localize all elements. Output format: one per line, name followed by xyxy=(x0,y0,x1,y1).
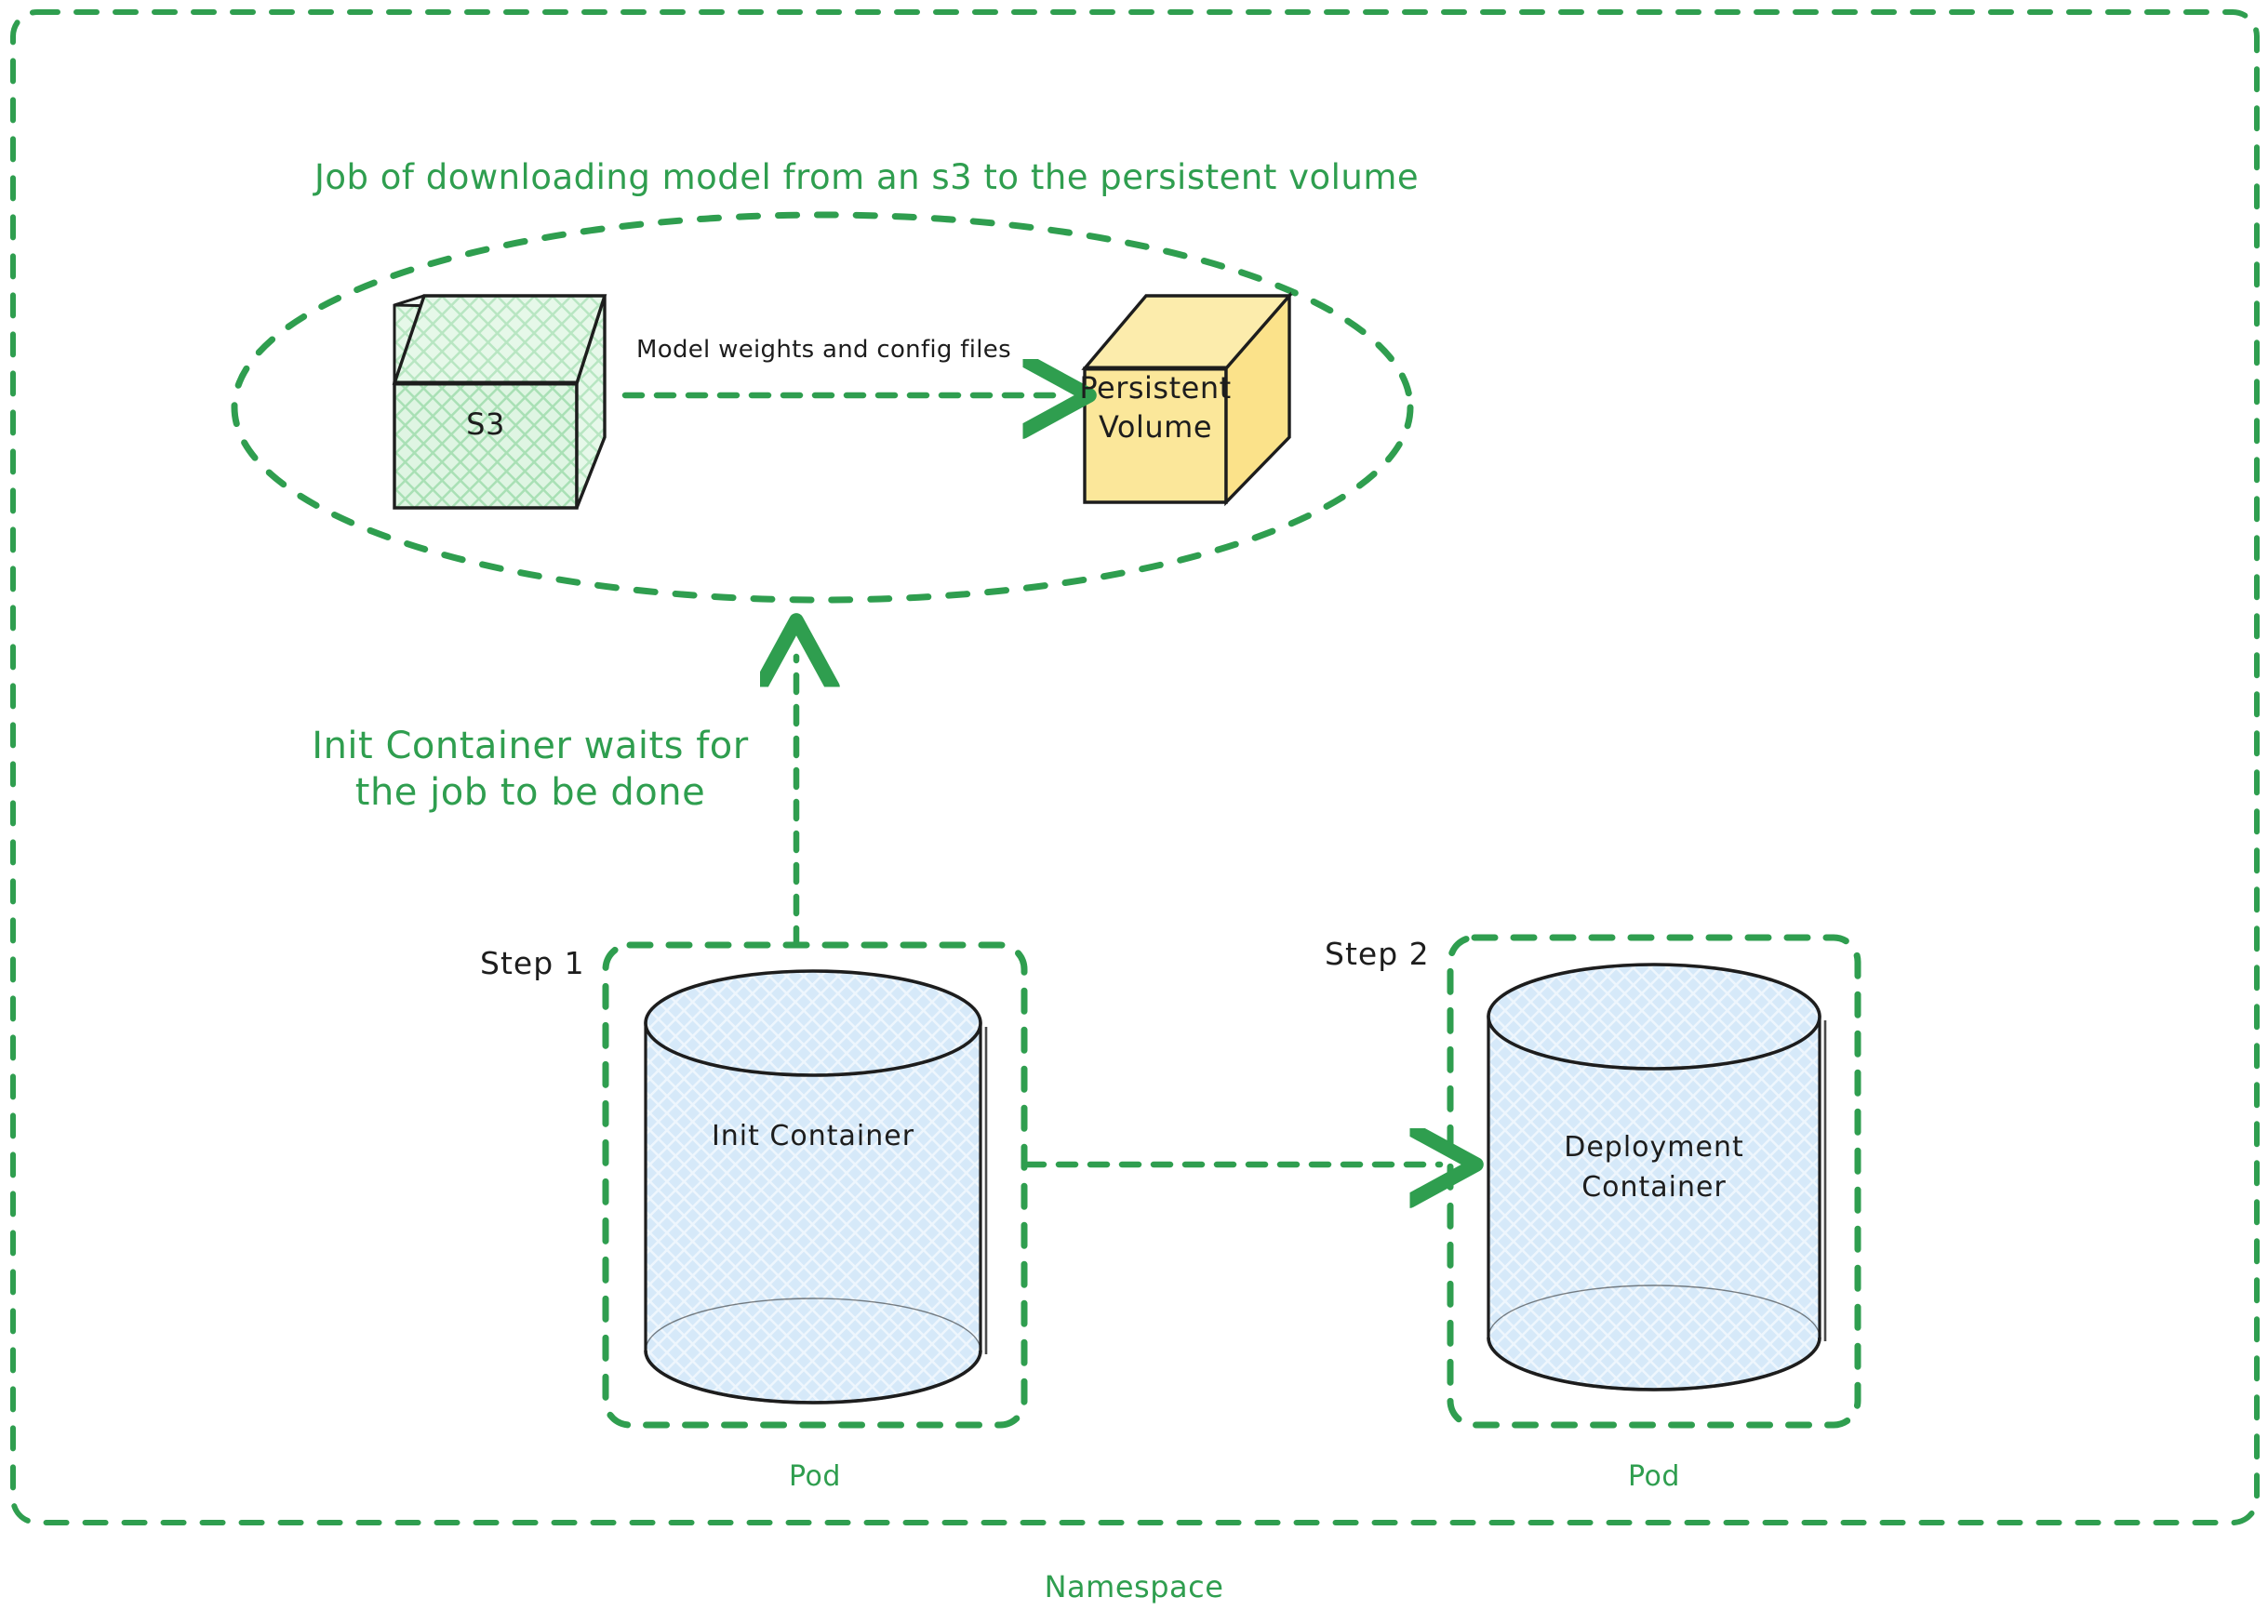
deployment-container-node-label-line1: Deployment xyxy=(1488,1131,1820,1165)
wait-note-line-1: Init Container waits for xyxy=(279,724,781,769)
deployment-container-node-label-line2: Container xyxy=(1488,1171,1820,1205)
s3-cube-shape xyxy=(394,296,605,508)
namespace-label: Namespace xyxy=(948,1569,1320,1605)
persistent-volume-node-label-line1: Persistent xyxy=(1079,370,1232,406)
init-container-cylinder-shape xyxy=(646,971,986,1403)
init-container-node-label: Init Container xyxy=(646,1120,981,1154)
wait-note-line-2: the job to be done xyxy=(279,770,781,816)
pod-label-step-2: Pod xyxy=(1488,1460,1820,1495)
diagram-canvas: Job of downloading model from an s3 to t… xyxy=(0,0,2268,1624)
pod-label-step-1: Pod xyxy=(647,1460,982,1495)
job-title-label: Job of downloading model from an s3 to t… xyxy=(314,156,1419,198)
step-2-label: Step 2 xyxy=(1325,936,1430,973)
persistent-volume-node-label-line2: Volume xyxy=(1079,409,1232,446)
step-1-label: Step 1 xyxy=(480,945,585,982)
edge-label-model-weights: Model weights and config files xyxy=(636,336,1011,366)
s3-node-label: S3 xyxy=(394,406,577,443)
